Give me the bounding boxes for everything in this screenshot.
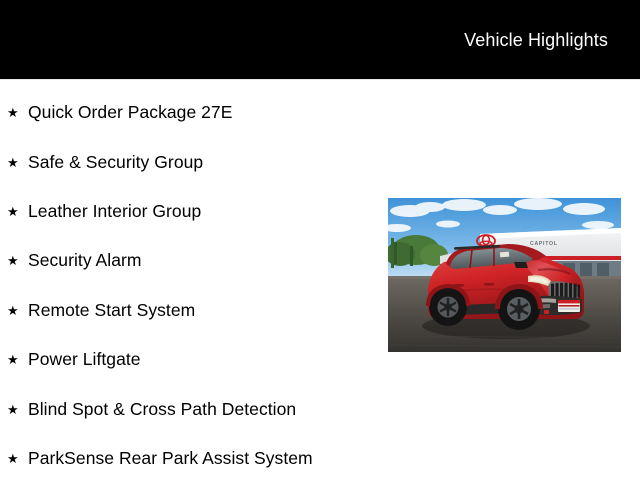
list-item: ★ Leather Interior Group [0, 187, 380, 236]
list-item: ★ Security Alarm [0, 236, 380, 285]
list-item: ★ Power Liftgate [0, 335, 380, 384]
list-item-label: Safe & Security Group [28, 152, 203, 173]
star-bullet-icon: ★ [7, 353, 28, 366]
list-item: ★ Blind Spot & Cross Path Detection [0, 384, 380, 433]
star-bullet-icon: ★ [7, 106, 28, 119]
list-item: ★ Safe & Security Group [0, 137, 380, 186]
page-title: Vehicle Highlights [464, 30, 608, 51]
star-bullet-icon: ★ [7, 452, 28, 465]
star-bullet-icon: ★ [7, 403, 28, 416]
list-item-label: Power Liftgate [28, 349, 141, 370]
list-item-label: Blind Spot & Cross Path Detection [28, 399, 296, 420]
header-bar: Vehicle Highlights [0, 0, 640, 79]
vehicle-highlights-list: ★ Quick Order Package 27E ★ Safe & Secur… [0, 88, 380, 483]
list-item-label: Security Alarm [28, 250, 142, 271]
vehicle-photo: TOYOTA CAPITOL [388, 198, 621, 352]
svg-text:CAPITOL: CAPITOL [530, 241, 558, 247]
list-item-label: Remote Start System [28, 300, 195, 321]
list-item-label: Quick Order Package 27E [28, 102, 232, 123]
list-item-label: ParkSense Rear Park Assist System [28, 448, 313, 469]
list-item: ★ Quick Order Package 27E [0, 88, 380, 137]
list-item: ★ ParkSense Rear Park Assist System [0, 434, 380, 483]
star-bullet-icon: ★ [7, 304, 28, 317]
list-item-label: Leather Interior Group [28, 201, 201, 222]
header-divider [0, 79, 640, 80]
star-bullet-icon: ★ [7, 156, 28, 169]
star-bullet-icon: ★ [7, 254, 28, 267]
list-item: ★ Remote Start System [0, 286, 380, 335]
star-bullet-icon: ★ [7, 205, 28, 218]
vehicle-photo-image: TOYOTA CAPITOL [388, 198, 621, 352]
